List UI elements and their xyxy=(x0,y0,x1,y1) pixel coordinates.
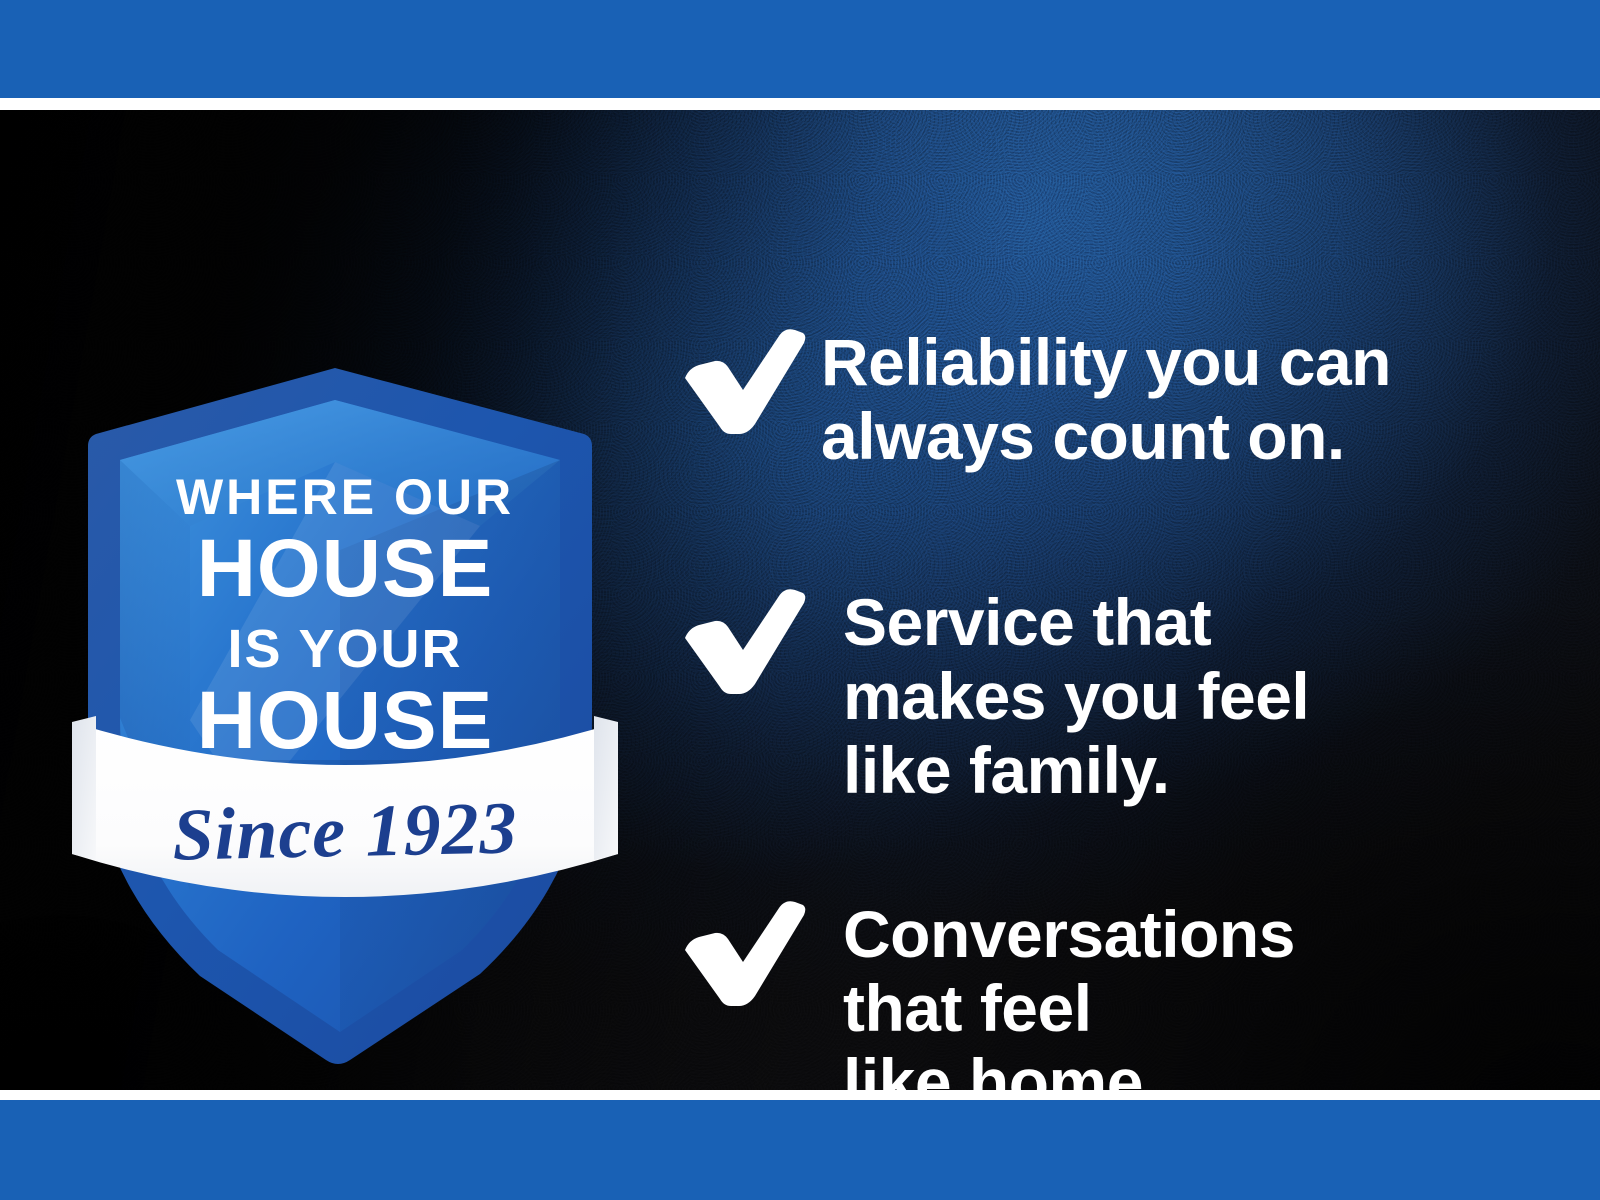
poster-stage: Where our House is your House Since 1923… xyxy=(0,110,1600,1090)
ribbon-fold-right xyxy=(594,716,618,860)
check-icon xyxy=(675,320,807,436)
list-item-text: Reliability you can always count on. xyxy=(821,320,1391,474)
shield-graphic xyxy=(60,250,630,1080)
list-item-text: Conversations that feel like home. xyxy=(843,892,1295,1090)
ribbon-fold-left xyxy=(72,716,96,860)
promotional-poster: Where our House is your House Since 1923… xyxy=(0,0,1600,1200)
top-brand-band xyxy=(0,0,1600,98)
benefits-list: Reliability you can always count on. Ser… xyxy=(675,220,1545,1090)
list-item: Conversations that feel like home. xyxy=(675,892,1295,1090)
check-icon xyxy=(675,580,807,696)
shield-badge: Where our House is your House Since 1923 xyxy=(60,250,630,1080)
list-item: Service that makes you feel like family. xyxy=(675,580,1309,808)
check-icon xyxy=(675,892,807,1008)
list-item: Reliability you can always count on. xyxy=(675,320,1391,474)
list-item-text: Service that makes you feel like family. xyxy=(843,580,1309,808)
bottom-brand-band xyxy=(0,1100,1600,1200)
